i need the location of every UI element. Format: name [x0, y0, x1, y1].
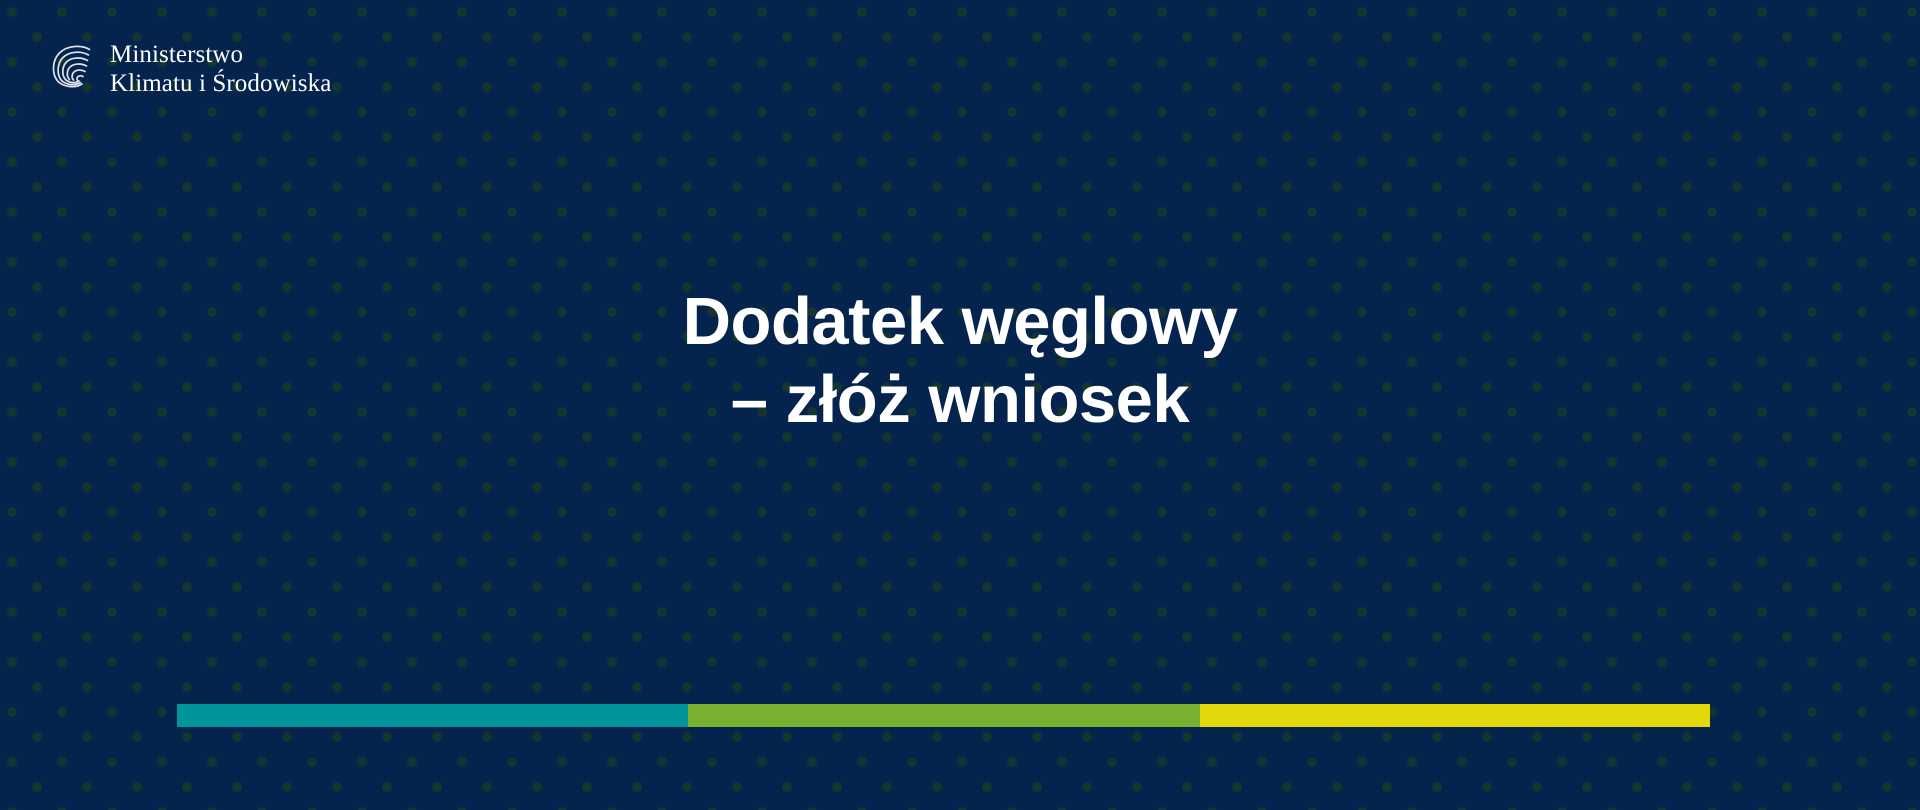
polish-ministry-spiral-emblem	[48, 43, 96, 95]
accent-bar-segment-yellow	[1200, 704, 1710, 727]
page-title: Dodatek węglowy – złóż wniosek	[0, 283, 1920, 438]
ministry-logo: Ministerstwo Klimatu i Środowiska	[48, 40, 331, 99]
accent-bar-segment-teal	[177, 704, 688, 727]
ministry-name-line-2: Klimatu i Środowiska	[110, 69, 331, 98]
promo-banner: Ministerstwo Klimatu i Środowiska Dodate…	[0, 0, 1920, 810]
accent-bar	[177, 704, 1710, 727]
ministry-name-line-1: Ministerstwo	[110, 40, 331, 69]
page-title-line-2: – złóż wniosek	[0, 361, 1920, 439]
page-title-line-1: Dodatek węglowy	[0, 283, 1920, 361]
ministry-wordmark: Ministerstwo Klimatu i Środowiska	[110, 40, 331, 99]
accent-bar-segment-green	[688, 704, 1200, 727]
